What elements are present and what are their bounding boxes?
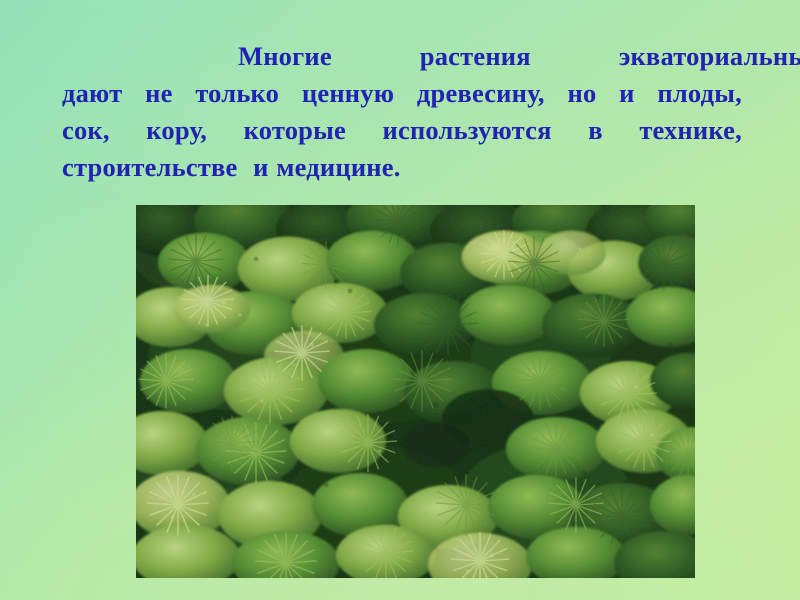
word: плоды, — [657, 75, 742, 112]
rainforest-canopy-illustration — [136, 205, 695, 578]
text-line-1: Многие растения экваториальных лесов — [62, 38, 742, 75]
word: ценную — [302, 75, 394, 112]
text-line-3: сок, кору, которые используются в техник… — [62, 112, 742, 149]
word: не — [145, 75, 172, 112]
word: и — [619, 75, 634, 112]
word: экваториальных — [531, 38, 800, 75]
word: древесину, — [417, 75, 545, 112]
word: Многие — [150, 38, 332, 75]
word: растения — [332, 38, 531, 75]
word: используются — [383, 112, 552, 149]
rainforest-canopy-photo — [136, 205, 695, 578]
word: сок, — [62, 112, 110, 149]
slide-body-text: Многие растения экваториальных лесов даю… — [62, 38, 742, 186]
word: которые — [244, 112, 346, 149]
word: технике, — [639, 112, 742, 149]
word: только — [195, 75, 279, 112]
word: кору, — [146, 112, 207, 149]
word: дают — [62, 75, 122, 112]
presentation-slide: Многие растения экваториальных лесов даю… — [0, 0, 800, 600]
word: в — [588, 112, 603, 149]
word: но — [568, 75, 597, 112]
text-line-2: дают не только ценную древесину, но и пл… — [62, 75, 742, 112]
text-line-4: строительстве и медицине. — [62, 149, 742, 186]
